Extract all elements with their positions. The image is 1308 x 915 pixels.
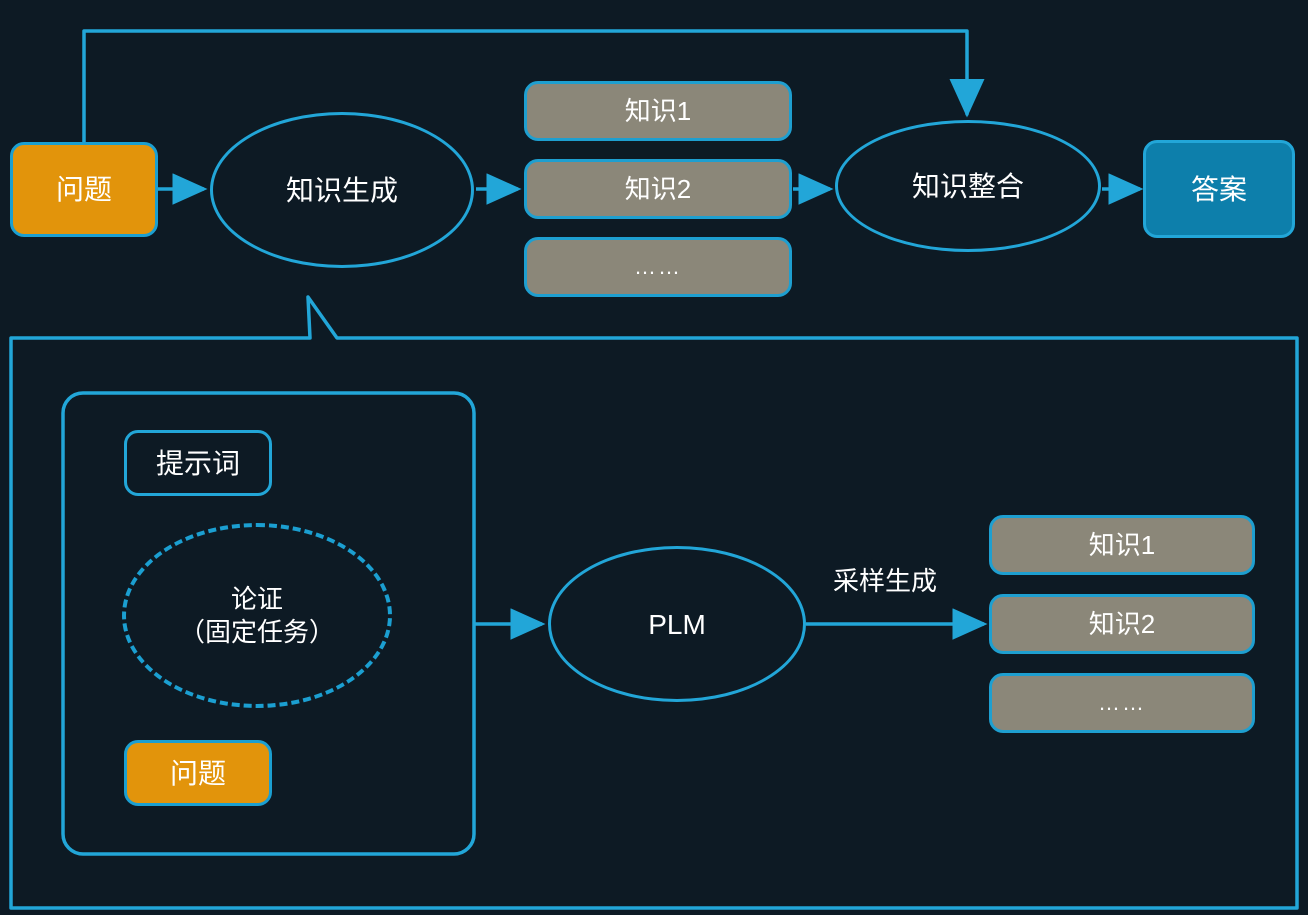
node-question-bottom[interactable]: 问题 xyxy=(124,740,272,806)
node-knowledge-item-more-bottom[interactable]: …… xyxy=(989,673,1255,733)
node-label: 知识生成 xyxy=(286,173,398,208)
node-question-top[interactable]: 问题 xyxy=(10,142,158,237)
node-prompt[interactable]: 提示词 xyxy=(124,430,272,496)
node-label: …… xyxy=(1098,689,1146,717)
diagram-canvas: 问题 知识生成 知识1 知识2 …… 知识整合 答案 提示词 论证 （固定任务）… xyxy=(0,0,1308,915)
node-demonstration[interactable]: 论证 （固定任务） xyxy=(122,523,392,708)
node-label: 提示词 xyxy=(156,446,240,481)
node-knowledge-item-1-bottom[interactable]: 知识1 xyxy=(989,515,1255,575)
node-label: 知识1 xyxy=(1089,529,1155,562)
node-label-line2: （固定任务） xyxy=(179,616,335,649)
node-knowledge-integration[interactable]: 知识整合 xyxy=(835,120,1101,252)
node-label: 问题 xyxy=(56,172,112,207)
node-label: 答案 xyxy=(1191,172,1247,207)
node-label: 知识2 xyxy=(1089,608,1155,641)
node-answer[interactable]: 答案 xyxy=(1143,140,1295,238)
node-knowledge-item-more-top[interactable]: …… xyxy=(524,237,792,297)
node-label: …… xyxy=(634,253,682,281)
node-knowledge-item-2-bottom[interactable]: 知识2 xyxy=(989,594,1255,654)
node-label: 知识整合 xyxy=(912,169,1024,204)
node-label: PLM xyxy=(648,607,706,642)
node-knowledge-item-2-top[interactable]: 知识2 xyxy=(524,159,792,219)
node-knowledge-generation[interactable]: 知识生成 xyxy=(210,112,474,268)
node-label: 问题 xyxy=(170,756,226,791)
node-label-line1: 论证 xyxy=(231,583,283,616)
node-label: 知识1 xyxy=(625,95,691,128)
edge-label-sampling: 采样生成 xyxy=(833,561,937,598)
node-plm[interactable]: PLM xyxy=(548,546,806,702)
node-label: 知识2 xyxy=(625,173,691,206)
node-knowledge-item-1-top[interactable]: 知识1 xyxy=(524,81,792,141)
